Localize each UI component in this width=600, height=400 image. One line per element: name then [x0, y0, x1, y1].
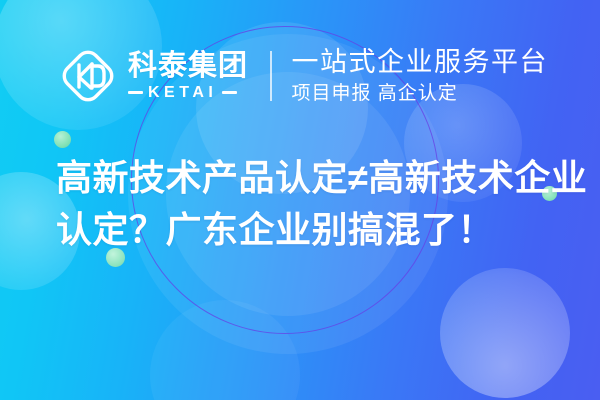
brand-name-en: KETAI	[148, 85, 217, 101]
promotional-banner: 科泰集团 KETAI 一站式企业服务平台 项目申报 高企认定 高新技术产品认定≠…	[0, 0, 600, 400]
brand-name-cn: 科泰集团	[128, 51, 248, 81]
banner-header: 科泰集团 KETAI 一站式企业服务平台 项目申报 高企认定	[0, 40, 600, 112]
headline-line-2: 认定？广东企业别搞混了！	[56, 204, 572, 256]
vertical-divider	[270, 51, 272, 101]
decorative-dot-left	[54, 131, 71, 148]
background-blob-bottom-left	[150, 300, 300, 400]
brand-name-en-row: KETAI	[128, 85, 248, 101]
tagline-sub: 项目申报 高企认定	[292, 82, 549, 106]
headline: 高新技术产品认定≠高新技术企业 认定？广东企业别搞混了！	[56, 152, 572, 256]
horizontal-rule-icon-right	[222, 91, 237, 94]
brand-lockup: 科泰集团 KETAI	[58, 46, 248, 106]
brand-text-block: 科泰集团 KETAI	[128, 51, 248, 100]
headline-line-1: 高新技术产品认定≠高新技术企业	[56, 152, 572, 204]
background-blob-bottom-right	[440, 268, 570, 398]
ketai-kd-monogram-icon	[58, 46, 118, 106]
horizontal-rule-icon-left	[128, 91, 143, 94]
tagline-main: 一站式企业服务平台	[292, 47, 549, 78]
tagline-block: 一站式企业服务平台 项目申报 高企认定	[292, 47, 549, 106]
